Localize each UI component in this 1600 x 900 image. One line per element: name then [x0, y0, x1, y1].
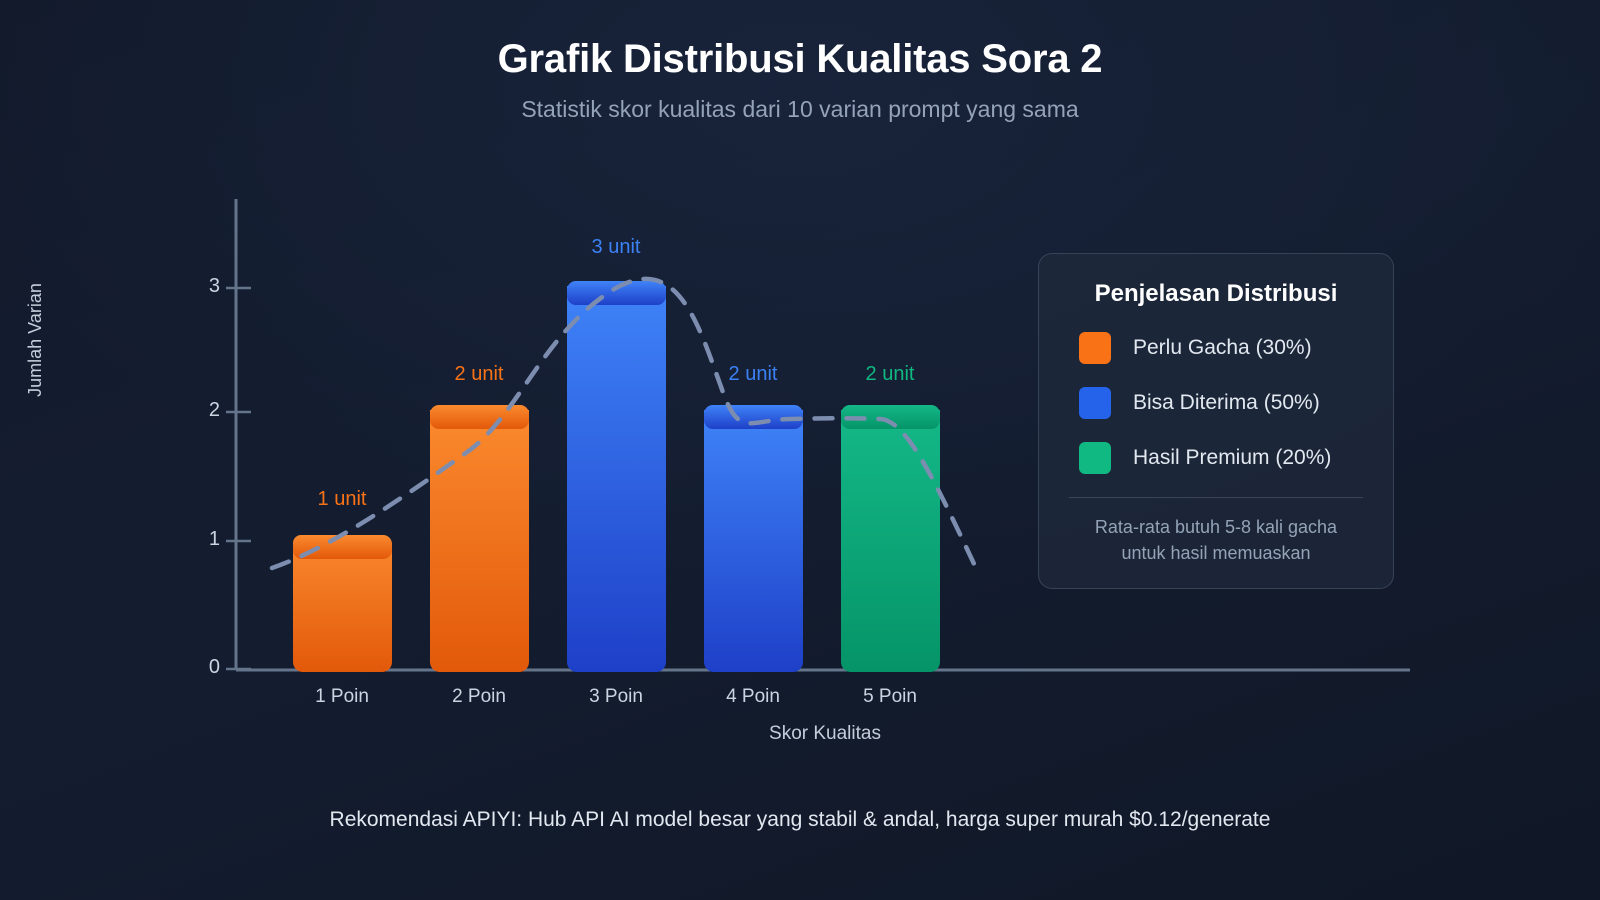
legend-note: Rata-rata butuh 5-8 kali gacha untuk has… — [1065, 514, 1367, 566]
y-tick-label-2: 2 — [180, 399, 220, 422]
x-tick-label-5-poin: 5 Poin — [815, 686, 965, 708]
y-tick-label-3: 3 — [180, 275, 220, 298]
bars-group — [293, 286, 940, 672]
legend-note-line-2: untuk hasil memuaskan — [1065, 540, 1367, 566]
legend-item-hasil-premium[interactable]: Hasil Premium (20%) — [1065, 442, 1367, 474]
bar-5-poin — [841, 410, 940, 672]
legend-label-hasil-premium: Hasil Premium (20%) — [1133, 446, 1331, 470]
legend-label-bisa-diterima: Bisa Diterima (50%) — [1133, 391, 1320, 415]
chart-page: Grafik Distribusi Kualitas Sora 2 Statis… — [0, 0, 1600, 900]
x-tick-label-2-poin: 2 Poin — [404, 686, 554, 708]
page-subtitle: Statistik skor kualitas dari 10 varian p… — [0, 96, 1600, 123]
y-tick-label-1: 1 — [180, 528, 220, 551]
bar-top-caps — [293, 281, 940, 559]
bar-4-poin — [704, 410, 803, 672]
bar-3-poin — [567, 286, 666, 672]
y-tick-label-0: 0 — [180, 656, 220, 679]
y-tick-marks — [226, 288, 251, 669]
legend-swatch-icon-blue — [1079, 387, 1111, 419]
bar-label-2-poin: 2 unit — [399, 363, 559, 386]
bar-label-4-poin: 2 unit — [673, 363, 833, 386]
bar-label-5-poin: 2 unit — [810, 363, 970, 386]
chart-header: Grafik Distribusi Kualitas Sora 2 Statis… — [0, 0, 1600, 123]
page-title: Grafik Distribusi Kualitas Sora 2 — [0, 36, 1600, 82]
legend-item-bisa-diterima[interactable]: Bisa Diterima (50%) — [1065, 387, 1367, 419]
x-tick-label-1-poin: 1 Poin — [267, 686, 417, 708]
legend-swatch-icon-green — [1079, 442, 1111, 474]
bar-1-poin — [293, 535, 392, 672]
x-axis-title: Skor Kualitas — [235, 723, 1415, 745]
legend-title: Penjelasan Distribusi — [1065, 280, 1367, 308]
y-axis-title: Jumlah Varian — [25, 240, 46, 440]
bar-label-3-poin: 3 unit — [536, 236, 696, 259]
legend-panel: Penjelasan Distribusi Perlu Gacha (30%) … — [1038, 253, 1394, 589]
bar-2-poin — [430, 410, 529, 672]
footer-note: Rekomendasi APIYI: Hub API AI model besa… — [0, 808, 1600, 832]
x-tick-label-4-poin: 4 Poin — [678, 686, 828, 708]
bar-label-1-poin: 1 unit — [262, 488, 422, 511]
legend-note-line-1: Rata-rata butuh 5-8 kali gacha — [1065, 514, 1367, 540]
legend-divider — [1069, 497, 1363, 498]
trend-line — [272, 279, 975, 568]
legend-label-perlu-gacha: Perlu Gacha (30%) — [1133, 336, 1312, 360]
legend-swatch-icon-orange — [1079, 332, 1111, 364]
x-tick-label-3-poin: 3 Poin — [541, 686, 691, 708]
legend-item-perlu-gacha[interactable]: Perlu Gacha (30%) — [1065, 332, 1367, 364]
